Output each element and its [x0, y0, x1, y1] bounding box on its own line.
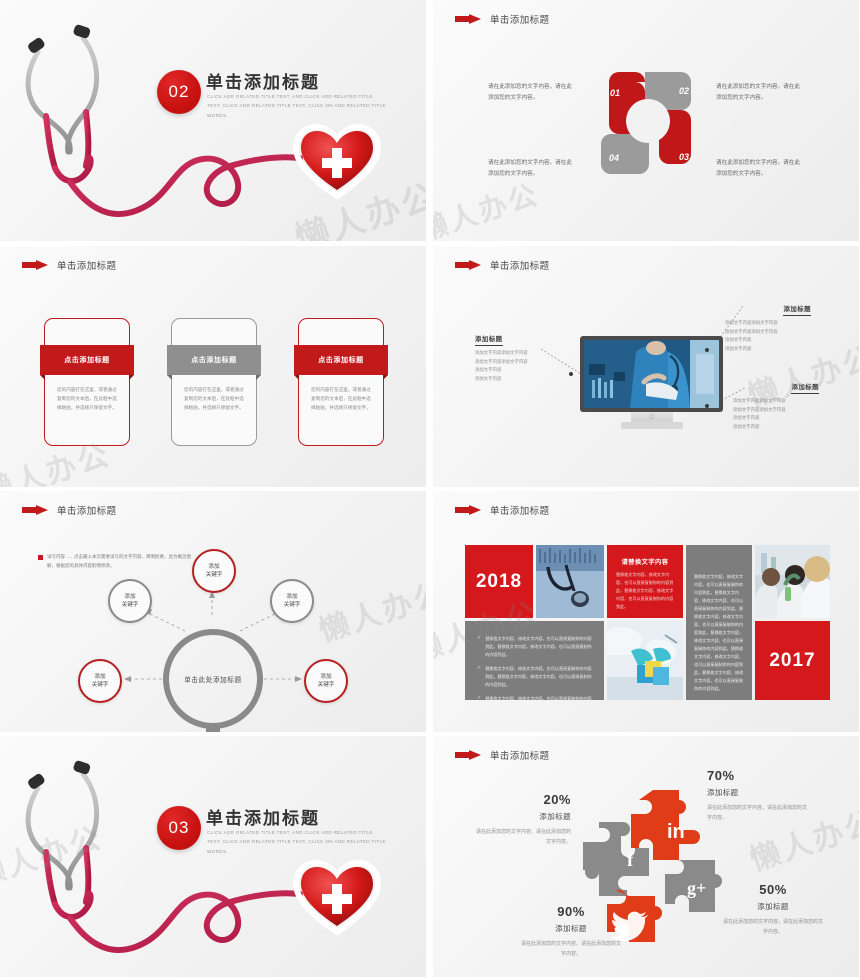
label-title: 添加标题: [707, 787, 811, 798]
keyword-line1: 添加: [124, 593, 135, 601]
check-icon: ✓: [477, 665, 481, 689]
slide-monitor-callouts[interactable]: 单击添加标题: [433, 246, 859, 487]
mosaic-year-2018: 2018: [465, 545, 533, 618]
keyword-node-top[interactable]: 添加 关键字: [192, 549, 236, 593]
keyword-node-upper-left[interactable]: 添加 关键字: [108, 579, 152, 623]
page-subtitle: CLICK ADD RELATED TITLE TEXT, AND CLICK …: [207, 92, 387, 120]
puzzle-label-bottom-left: 90% 添加标题 请在此添加您的文字内容，请在此添加您的文字内容。: [519, 904, 623, 959]
label-body: 请在此添加您的文字内容，请在此添加您的文字内容。: [475, 827, 571, 847]
pinwheel-text-bottom-left: 请在此添加您的文字内容，请在此添加您的文字内容。: [488, 158, 574, 180]
pinwheel-text-top-right: 请在此添加您的文字内容，请在此添加您的文字内容。: [716, 82, 802, 104]
ribbon-banner: 点击添加标题: [36, 345, 138, 375]
callout-title: 添加标题: [475, 334, 503, 346]
keyword-line1: 添加: [208, 563, 219, 571]
check-icon: ✓: [477, 635, 481, 659]
callout-anchor-dot: [569, 372, 573, 376]
keyword-node-lower-right[interactable]: 添加 关键字: [304, 659, 348, 703]
label-title: 添加标题: [519, 923, 623, 934]
label-body: 请在此添加您的文字内容，请在此添加您的文字内容。: [707, 803, 811, 823]
panel-header: 单击添加标题: [22, 258, 116, 272]
ribbon-card-title: 点击添加标题: [191, 355, 237, 365]
monitor-callout-left: 添加标题 添加文字内容添加文字内容 添加文字内容添加文字内容 添加文字内容 添加…: [475, 328, 553, 383]
monitor-callout-top-right: 添加标题 添加文字内容添加文字内容 添加文字内容添加文字内容 添加文字内容 添加…: [725, 298, 811, 353]
mosaic-photo-scientists: [755, 545, 830, 618]
list-item: ✓ 替换枚文字内容，修改文字内容，也可以直接复制你的内容到此。替换枚文字内容，修…: [477, 635, 592, 659]
mosaic-grey-body: 替换枚文字内容，修改文字内容，也可以直接复制你的内容到此。替换枚文字内容，修改文…: [694, 573, 744, 693]
apple-logo-icon: : [649, 415, 654, 421]
year-label: 2017: [769, 650, 815, 672]
mosaic-red-body: 替换枚文字内容，修改文字内容，也可以直接复制你的内容到此。替换枚文字内容，修改文…: [616, 571, 674, 611]
mosaic-grey-textblock: 替换枚文字内容，修改文字内容，也可以直接复制你的内容到此。替换枚文字内容，修改文…: [686, 545, 752, 700]
monitor-bezel: [580, 336, 723, 412]
monitor-base: [621, 422, 683, 429]
googleplus-glyph: g+: [687, 878, 706, 898]
panel-header-label: 单击添加标题: [490, 12, 549, 26]
arrow-right-icon: [455, 750, 481, 761]
checklist-text: 替换枚文字内容，修改文字内容，也可以直接复制你的内容到此。替换枚文字内容，修改文…: [485, 695, 592, 700]
label-body: 请在此添加您的文字内容，请在此添加您的文字内容。: [721, 917, 825, 937]
percent-value: 90%: [519, 904, 623, 919]
percent-value: 50%: [721, 882, 825, 897]
mosaic-photo-lab: [607, 621, 683, 700]
keyword-line1: 添加: [94, 673, 105, 681]
watermark: 懒人办公: [433, 173, 544, 241]
list-item: ✓ 替换枚文字内容，修改文字内容，也可以直接复制你的内容到此。替换枚文字内容，修…: [477, 665, 592, 689]
pinwheel-number: 04: [609, 153, 619, 163]
checklist: ✓ 替换枚文字内容，修改文字内容，也可以直接复制你的内容到此。替换枚文字内容，修…: [477, 635, 592, 700]
pinwheel-text-bottom-right: 请在此添加您的文字内容，请在此添加您的文字内容。: [716, 158, 802, 180]
percent-value: 20%: [475, 792, 571, 807]
list-item: ✓ 替换枚文字内容，修改文字内容，也可以直接复制你的内容到此。替换枚文字内容，修…: [477, 695, 592, 700]
slide-cover-02[interactable]: 02 单击添加标题 CLICK ADD RELATED TITLE TEXT, …: [0, 0, 426, 241]
checklist-text: 替换枚文字内容，修改文字内容，也可以直接复制你的内容到此。替换枚文字内容，修改文…: [485, 665, 592, 689]
keyword-line2: 关键字: [92, 681, 109, 689]
panel-header: 单击添加标题: [455, 748, 549, 762]
puzzle-label-left: 20% 添加标题 请在此添加您的文字内容，请在此添加您的文字内容。: [475, 792, 571, 847]
linkedin-glyph: in: [667, 821, 685, 843]
pinwheel-number: 02: [679, 86, 689, 96]
ribbon-banner: 点击添加标题: [290, 345, 392, 375]
mosaic-red-textblock: 请替换文字内容 替换枚文字内容，修改文字内容，也可以直接复制你的内容到此。替换枚…: [607, 545, 683, 618]
slide-ribbon-cards[interactable]: 单击添加标题 点击添加标题 您的内容打在这里，或者通过复制您的文本后，在此框中选…: [0, 246, 426, 487]
pinwheel-text-top-left: 请在此添加您的文字内容，请在此添加您的文字内容。: [488, 82, 574, 104]
label-title: 添加标题: [475, 811, 571, 822]
year-label: 2018: [476, 571, 522, 593]
puzzle-label-top-right: 70% 添加标题 请在此添加您的文字内容，请在此添加您的文字内容。: [707, 768, 811, 823]
arrow-right-icon: [22, 260, 48, 271]
ribbon-card-body: 您的内容打在这里，或者通过复制您的文本后，在此框中选择粘贴，并选择只保留文字。: [57, 385, 117, 413]
ribbon-card[interactable]: 点击添加标题 您的内容打在这里，或者通过复制您的文本后，在此框中选择粘贴，并选择…: [171, 318, 257, 446]
imac-monitor: : [580, 336, 723, 428]
keyword-line2: 关键字: [206, 571, 223, 579]
monitor-callout-bottom-right: 添加标题 添加文字内容添加文字内容 添加文字内容添加文字内容 添加文字内容 添加…: [733, 376, 819, 431]
ribbon-card[interactable]: 点击添加标题 您的内容打在这里，或者通过复制您的文本后，在此框中选择粘贴，并选择…: [298, 318, 384, 446]
page-title: 单击添加标题: [206, 68, 320, 93]
ribbon-card[interactable]: 点击添加标题 您的内容打在这里，或者通过复制您的文本后，在此框中选择粘贴，并选择…: [44, 318, 130, 446]
callout-body: 添加文字内容添加文字内容 添加文字内容添加文字内容 添加文字内容 添加文字内容: [725, 319, 811, 353]
slide-cover-03[interactable]: 03 单击添加标题 CLICK ADD RELATED TITLE TEXT, …: [0, 736, 426, 977]
checklist-text: 替换枚文字内容，修改文字内容，也可以直接复制你的内容到此。替换枚文字内容，修改文…: [485, 635, 592, 659]
magnifier-connectors: [0, 491, 426, 732]
slide-number-badge: 02: [157, 70, 201, 114]
slide-number-badge: 03: [157, 806, 201, 850]
slide-thumbnail-grid: 02 单击添加标题 CLICK ADD RELATED TITLE TEXT, …: [0, 0, 860, 980]
ribbon-banner: 点击添加标题: [163, 345, 265, 375]
monitor-screen-photo: [584, 340, 719, 408]
keyword-line2: 关键字: [318, 681, 335, 689]
callout-body: 添加文字内容添加文字内容 添加文字内容添加文字内容 添加文字内容 添加文字内容: [475, 349, 553, 383]
pinwheel-number: 03: [679, 152, 689, 162]
keyword-node-lower-left[interactable]: 添加 关键字: [78, 659, 122, 703]
label-body: 请在此添加您的文字内容，请在此添加您的文字内容。: [519, 939, 623, 959]
callout-body: 添加文字内容添加文字内容 添加文字内容添加文字内容 添加文字内容 添加文字内容: [733, 397, 819, 431]
label-title: 添加标题: [721, 901, 825, 912]
ribbon-card-title: 点击添加标题: [64, 355, 110, 365]
magnifier-center-label: 单击此处添加标题: [184, 674, 242, 684]
keyword-node-upper-right[interactable]: 添加 关键字: [270, 579, 314, 623]
keyword-line2: 关键字: [122, 601, 139, 609]
pinwheel-number: 01: [610, 88, 620, 98]
panel-header: 单击添加标题: [455, 12, 549, 26]
page-title: 单击添加标题: [206, 804, 320, 829]
mosaic-red-title: 请替换文字内容: [616, 557, 674, 566]
puzzle-label-bottom-right: 50% 添加标题 请在此添加您的文字内容，请在此添加您的文字内容。: [721, 882, 825, 937]
arrow-right-icon: [455, 505, 481, 516]
panel-header-label: 单击添加标题: [490, 748, 549, 762]
check-icon: ✓: [477, 695, 481, 700]
keyword-line1: 添加: [286, 593, 297, 601]
panel-header-label: 单击添加标题: [490, 503, 549, 517]
ribbon-card-body: 您的内容打在这里，或者通过复制您的文本后，在此框中选择粘贴，并选择只保留文字。: [311, 385, 371, 413]
ribbon-card-body: 您的内容打在这里，或者通过复制您的文本后，在此框中选择粘贴，并选择只保留文字。: [184, 385, 244, 413]
panel-header-label: 单击添加标题: [57, 258, 116, 272]
keyword-line1: 添加: [320, 673, 331, 681]
mosaic-photo-stethoscope: [536, 545, 604, 618]
slide-mosaic-timeline[interactable]: 单击添加标题 2018: [433, 491, 859, 732]
callout-anchor-dot: [705, 348, 709, 352]
mosaic-year-2017: 2017: [755, 621, 830, 700]
percent-value: 70%: [707, 768, 811, 783]
mosaic-grid: 2018: [465, 545, 830, 700]
mosaic-checklist: ✓ 替换枚文字内容，修改文字内容，也可以直接复制你的内容到此。替换枚文字内容，修…: [465, 621, 604, 700]
callout-anchor-dot: [705, 404, 709, 408]
page-subtitle: CLICK ADD RELATED TITLE TEXT, AND CLICK …: [207, 828, 387, 856]
ribbon-card-title: 点击添加标题: [318, 355, 364, 365]
callout-title: 添加标题: [791, 382, 819, 394]
panel-header: 单击添加标题: [455, 503, 549, 517]
pinwheel-diagram: [593, 64, 701, 182]
facebook-glyph: f: [627, 850, 634, 871]
slide-pinwheel[interactable]: 单击添加标题 01 02 03 04 请在此添加您的文字内容，请在此添加您的文字…: [433, 0, 859, 241]
stethoscope-illustration: [0, 736, 426, 977]
stethoscope-illustration: [0, 0, 426, 241]
callout-title: 添加标题: [783, 304, 811, 316]
slide-magnifier-keywords[interactable]: 单击添加标题 详写内容……点击输入本页需要详写的文字内容，简明扼要，此为概念图解…: [0, 491, 426, 732]
arrow-right-icon: [455, 14, 481, 25]
slide-puzzle-social[interactable]: 单击添加标题 in f g+ 20%: [433, 736, 859, 977]
keyword-line2: 关键字: [284, 601, 301, 609]
